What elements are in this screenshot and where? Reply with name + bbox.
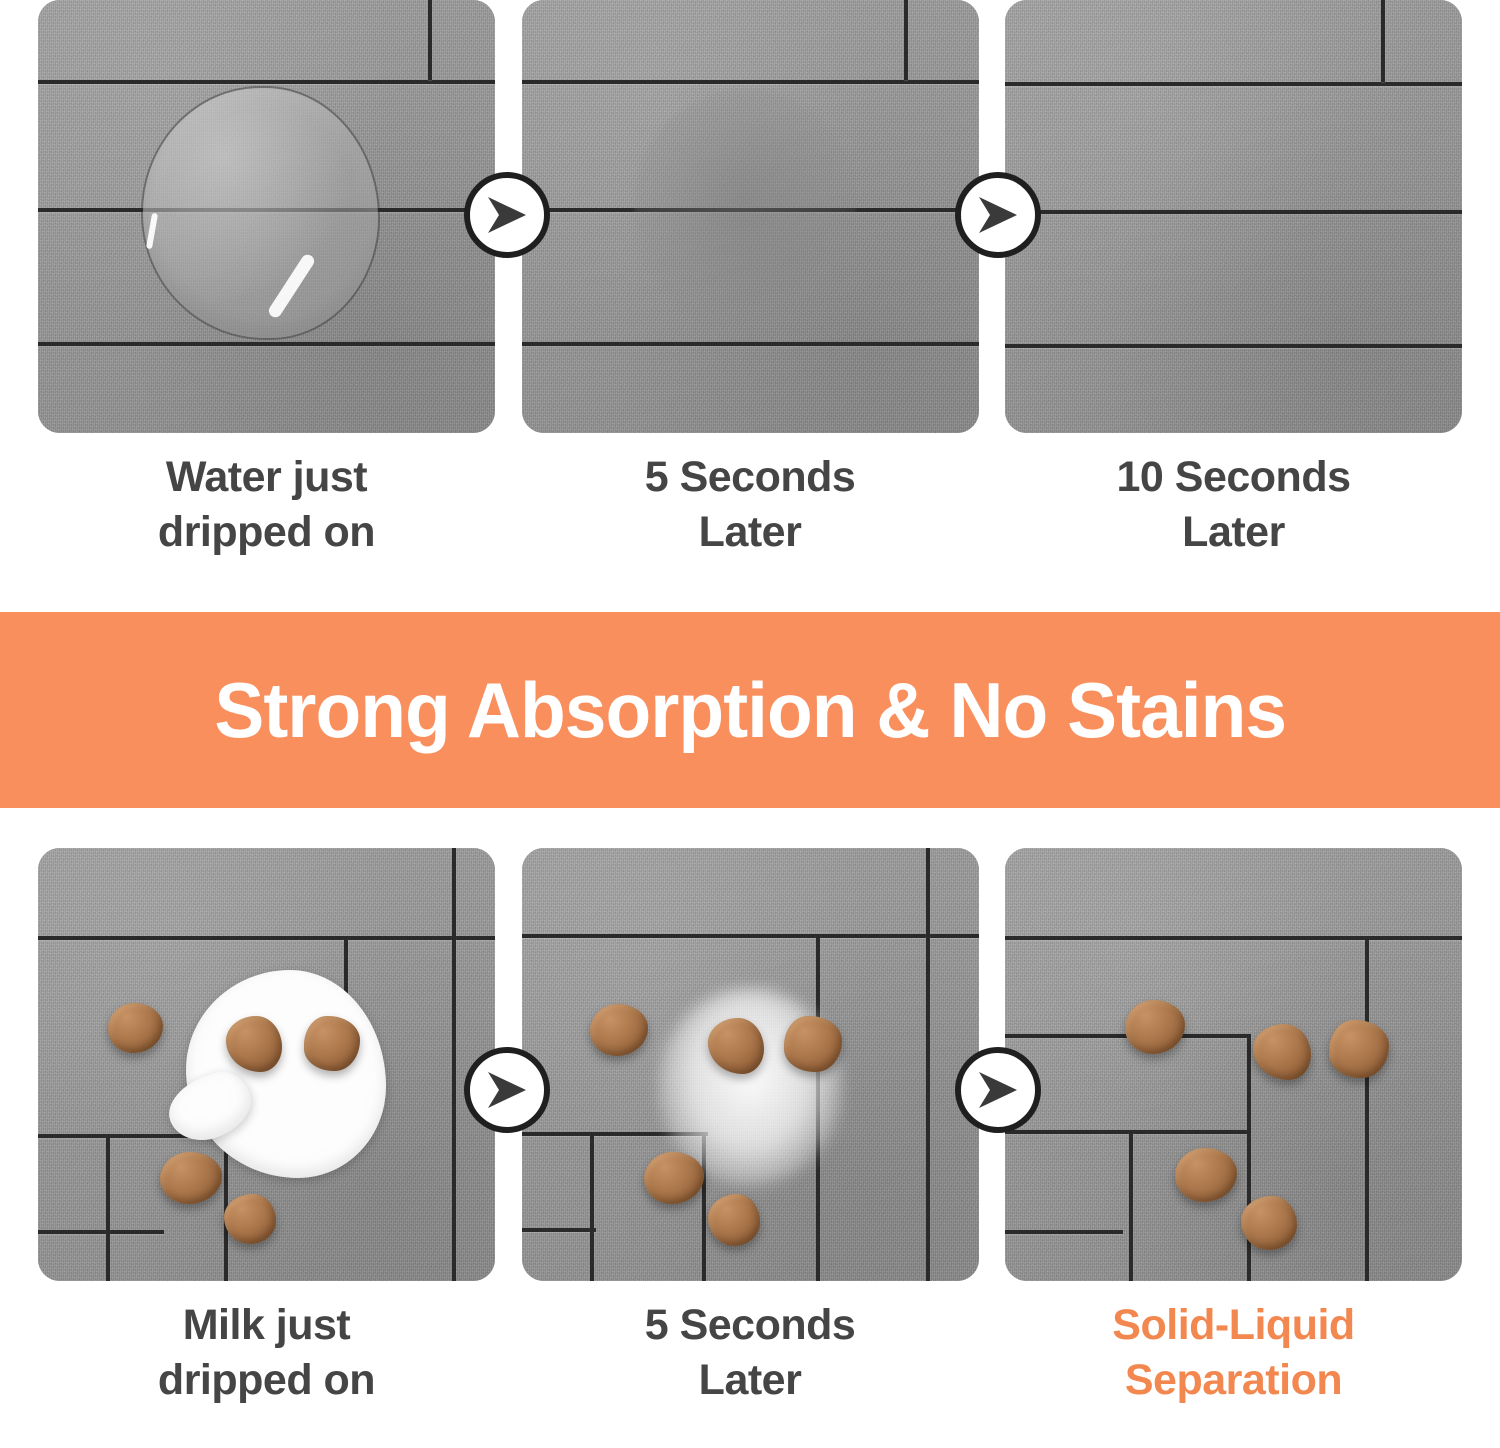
water-absorption-sequence: Water just dripped on 5 Seconds Later 10… — [0, 0, 1500, 600]
grout-line — [522, 934, 979, 938]
kibble-piece — [1329, 1020, 1389, 1078]
caption-line: Milk just — [38, 1298, 495, 1353]
milk-step-2-panel — [522, 848, 979, 1281]
kibble-piece — [304, 1016, 360, 1071]
kibble-piece — [1241, 1196, 1297, 1250]
water-step-3-caption: 10 Seconds Later — [1005, 450, 1462, 560]
milk-absorption-sequence: Milk just dripped on 5 Seconds Later Sol… — [0, 848, 1500, 1448]
grout-line — [1005, 936, 1462, 940]
grout-line — [1005, 1230, 1123, 1234]
water-step-1-caption: Water just dripped on — [38, 450, 495, 560]
caption-line: Later — [522, 505, 979, 560]
grout-line — [38, 1230, 164, 1234]
kibble-piece — [224, 1194, 276, 1244]
headline-banner: Strong Absorption & No Stains — [0, 612, 1500, 808]
grout-line — [1005, 82, 1462, 86]
grout-line — [106, 1134, 110, 1281]
grout-line — [926, 848, 930, 938]
grout-line — [926, 934, 930, 1281]
milk-step-1-panel — [38, 848, 495, 1281]
grout-line — [522, 80, 979, 84]
water-caption-row: Water just dripped on 5 Seconds Later 10… — [38, 450, 1462, 560]
damp-patch — [634, 90, 856, 330]
arrow-right-icon — [464, 1047, 550, 1133]
infographic-root: Water just dripped on 5 Seconds Later 10… — [0, 0, 1500, 1448]
droplet-highlight — [146, 213, 158, 249]
caption-line: Solid-Liquid — [1005, 1298, 1462, 1353]
caption-line: Water just — [38, 450, 495, 505]
water-step-3-panel — [1005, 0, 1462, 433]
water-step-1-panel — [38, 0, 495, 433]
grout-line — [38, 80, 495, 84]
grout-line — [1129, 1130, 1133, 1281]
arrow-right-icon — [955, 172, 1041, 258]
mat-texture — [1005, 0, 1462, 433]
milk-caption-row: Milk just dripped on 5 Seconds Later Sol… — [38, 1298, 1462, 1408]
water-step-2-panel — [522, 0, 979, 433]
droplet-highlight — [266, 252, 316, 319]
grout-line — [1005, 1130, 1247, 1134]
grout-line — [590, 1132, 594, 1281]
caption-line: 5 Seconds — [522, 450, 979, 505]
kibble-piece — [784, 1016, 842, 1072]
caption-line: 10 Seconds — [1005, 450, 1462, 505]
caption-line: Later — [1005, 505, 1462, 560]
grout-line — [1005, 210, 1462, 214]
caption-line: dripped on — [38, 505, 495, 560]
grout-line — [452, 848, 456, 940]
grout-line — [1247, 1034, 1251, 1281]
arrow-right-icon — [955, 1047, 1041, 1133]
grout-line — [428, 0, 432, 80]
grout-line — [452, 936, 456, 1281]
milk-panel-strip — [38, 848, 1462, 1281]
grout-line — [1381, 0, 1385, 82]
mat-texture — [1005, 848, 1462, 1281]
milk-step-3-caption: Solid-Liquid Separation — [1005, 1298, 1462, 1408]
caption-line: dripped on — [38, 1353, 495, 1408]
grout-line — [522, 1228, 596, 1232]
caption-line: 5 Seconds — [522, 1298, 979, 1353]
caption-line: Later — [522, 1353, 979, 1408]
headline-text: Strong Absorption & No Stains — [214, 671, 1286, 749]
grout-line — [38, 342, 495, 346]
grout-line — [1365, 936, 1369, 1281]
milk-step-1-caption: Milk just dripped on — [38, 1298, 495, 1408]
water-step-2-caption: 5 Seconds Later — [522, 450, 979, 560]
grout-line — [522, 342, 979, 346]
grout-line — [904, 0, 908, 80]
arrow-right-icon — [464, 172, 550, 258]
water-panel-strip — [38, 0, 1462, 433]
milk-step-2-caption: 5 Seconds Later — [522, 1298, 979, 1408]
grout-line — [38, 936, 495, 940]
caption-line: Separation — [1005, 1353, 1462, 1408]
water-droplet — [143, 88, 378, 338]
kibble-piece — [708, 1194, 760, 1246]
grout-line — [1005, 344, 1462, 348]
milk-step-3-panel — [1005, 848, 1462, 1281]
